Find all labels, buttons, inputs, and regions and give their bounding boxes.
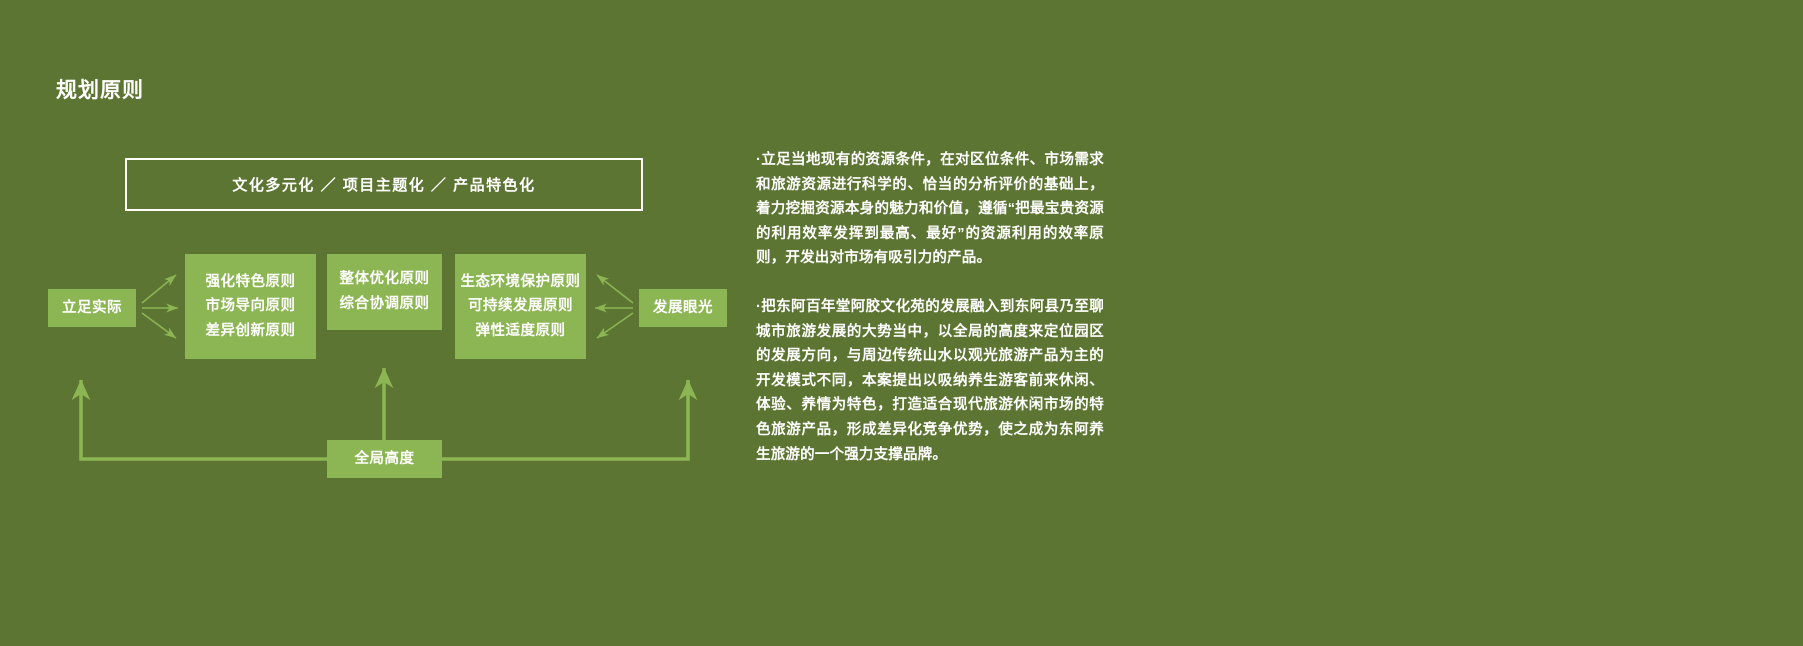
node-line: 可持续发展原则 (468, 294, 573, 319)
node-line: 立足实际 (62, 296, 122, 321)
description-paragraph-2: ·把东阿百年堂阿胶文化苑的发展融入到东阿县乃至聊城市旅游发展的大势当中，以全局的… (756, 295, 1104, 467)
node-qianghua-tese[interactable]: 强化特色原则 市场导向原则 差异创新原则 (185, 254, 316, 359)
node-line: 差异创新原则 (206, 319, 296, 344)
node-line: 强化特色原则 (206, 270, 296, 295)
node-line: 生态环境保护原则 (461, 270, 581, 295)
principles-banner: 文化多元化 ／ 项目主题化 ／ 产品特色化 (125, 158, 643, 211)
slide-canvas: 规划原则 文化多元化 ／ 项目主题化 ／ 产品特色化 (0, 0, 1803, 646)
principles-banner-label: 文化多元化 ／ 项目主题化 ／ 产品特色化 (232, 174, 535, 195)
node-shengtai-huanjing[interactable]: 生态环境保护原则 可持续发展原则 弹性适度原则 (455, 254, 586, 359)
node-quanju-gaodu[interactable]: 全局高度 (327, 440, 442, 478)
node-line: 市场导向原则 (206, 294, 296, 319)
description-paragraph-1: ·立足当地现有的资源条件，在对区位条件、市场需求和旅游资源进行科学的、恰当的分析… (756, 148, 1104, 271)
node-line: 整体优化原则 (340, 267, 430, 292)
description-text-column: ·立足当地现有的资源条件，在对区位条件、市场需求和旅游资源进行科学的、恰当的分析… (756, 148, 1104, 467)
node-line: 发展眼光 (653, 296, 713, 321)
node-zhengti-youhua[interactable]: 整体优化原则 综合协调原则 (327, 254, 442, 330)
node-line: 全局高度 (355, 447, 415, 472)
node-line: 综合协调原则 (340, 292, 430, 317)
node-lizu-shiji[interactable]: 立足实际 (48, 289, 136, 327)
page-title: 规划原则 (56, 74, 144, 104)
node-fazhan-yanguang[interactable]: 发展眼光 (639, 289, 727, 327)
node-line: 弹性适度原则 (476, 319, 566, 344)
